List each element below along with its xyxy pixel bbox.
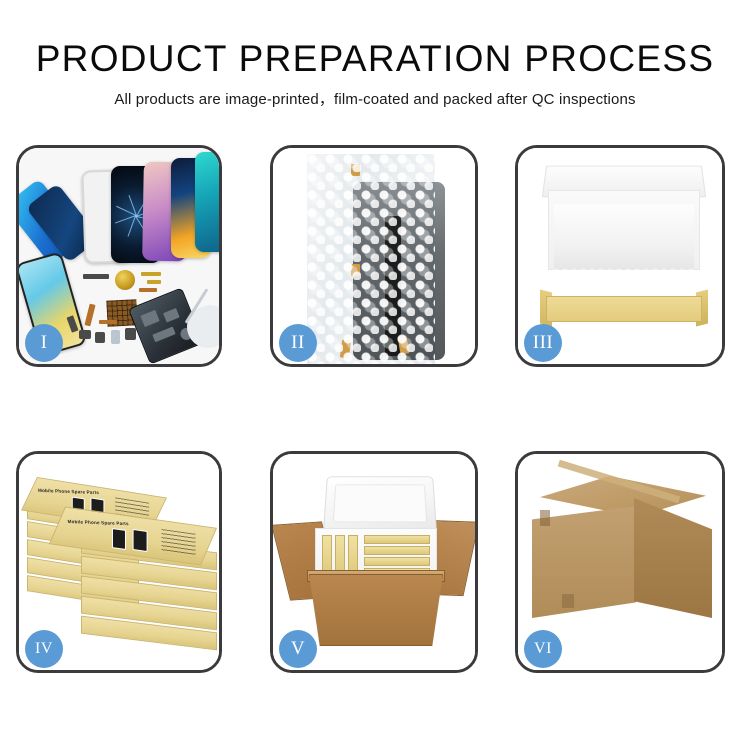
step-numeral-6: VI [534, 640, 552, 658]
step-badge-3: III [524, 324, 562, 362]
box-front-panel [546, 296, 702, 322]
box-brand-label-front: Mobile Phone Spare Parts [67, 519, 129, 526]
part-block-3 [111, 330, 120, 344]
teal-phone-graphic [195, 152, 219, 252]
process-step-panel-4: Mobile Phone Spare Parts Mobile Phone Sp… [16, 451, 222, 673]
part-block-2 [95, 332, 105, 343]
step-numeral-5: V [291, 638, 305, 660]
part-strip-1 [83, 274, 109, 279]
box-stack: Mobile Phone Spare Parts Mobile Phone Sp… [25, 472, 219, 658]
process-step-panel-6: VI [515, 451, 725, 673]
styrofoam-lid [323, 476, 437, 531]
step-numeral-1: I [41, 332, 48, 354]
flex-cable-2 [99, 320, 117, 324]
step-badge-5: V [279, 630, 317, 668]
step-badge-4: IV [25, 630, 63, 668]
page-title: PRODUCT PREPARATION PROCESS [0, 38, 750, 80]
page-subtitle: All products are image-printed，film-coat… [0, 88, 750, 109]
step-numeral-2: II [291, 332, 305, 354]
bubble-wrapped-contents [552, 268, 696, 298]
part-strip-3 [147, 280, 161, 284]
flex-cable-3 [139, 288, 157, 292]
step-numeral-3: III [533, 332, 553, 354]
box-brand-label-rear: Mobile Phone Spare Parts [38, 488, 100, 495]
process-step-panel-5: V [270, 451, 478, 673]
carton-seam-2 [562, 594, 574, 608]
process-steps-grid: I II [16, 145, 734, 673]
carton-body [309, 574, 443, 646]
step-badge-2: II [279, 324, 317, 362]
step-badge-1: I [25, 324, 63, 362]
step-badge-6: VI [524, 630, 562, 668]
process-step-panel-2: II [270, 145, 478, 367]
white-foam-sheet [554, 204, 694, 270]
bubble-wrap-pack [307, 154, 435, 364]
carton-side-face [634, 498, 712, 618]
part-block-4 [125, 328, 136, 340]
process-step-panel-1: I [16, 145, 222, 367]
part-strip-2 [141, 272, 161, 276]
process-step-panel-3: III [515, 145, 725, 367]
part-block-1 [79, 330, 91, 339]
carton-seam-1 [540, 510, 550, 526]
step-numeral-4: IV [35, 640, 53, 658]
camera-module-graphic [115, 270, 135, 290]
